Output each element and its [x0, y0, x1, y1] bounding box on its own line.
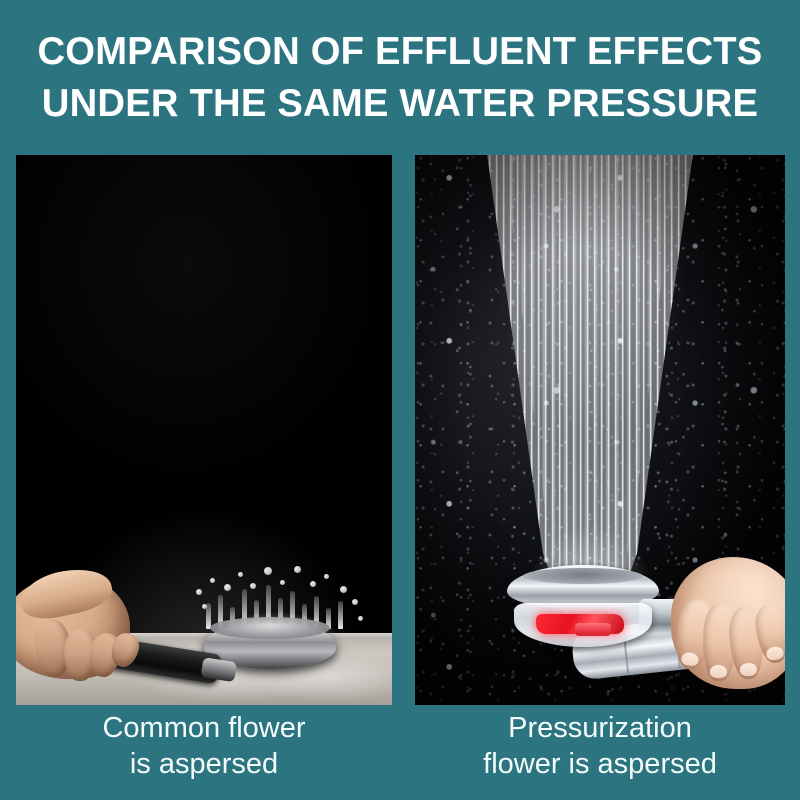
splash-droplet: [324, 574, 329, 579]
handle-connector: [200, 657, 237, 682]
fingernail: [739, 662, 757, 676]
panel-common-flower: [16, 155, 392, 705]
caption-line-2: flower is aspersed: [415, 746, 785, 782]
page-title: COMPARISON OF EFFLUENT EFFECTS UNDER THE…: [0, 26, 800, 130]
caption-line-1: Common flower: [16, 710, 392, 746]
product-comparison-poster: COMPARISON OF EFFLUENT EFFECTS UNDER THE…: [0, 0, 800, 800]
comparison-panels: [16, 155, 785, 705]
splash-droplet: [264, 567, 272, 575]
caption-pressurization-flower: Pressurization flower is aspersed: [415, 710, 785, 782]
title-line-1: COMPARISON OF EFFLUENT EFFECTS: [8, 26, 792, 78]
splash-droplet: [294, 566, 301, 573]
panel-captions: Common flower is aspersed Pressurization…: [0, 710, 800, 800]
shower-head-pressurized-icon: [507, 565, 659, 653]
splash-droplet: [340, 586, 347, 593]
splash-droplet: [280, 580, 285, 585]
hand-holding-shower: [647, 539, 785, 689]
splash-droplet: [358, 616, 363, 621]
panel-pressurization-flower: [415, 155, 785, 705]
splash-droplet: [238, 572, 243, 577]
splash-droplet: [352, 599, 358, 605]
caption-line-2: is aspersed: [16, 746, 392, 782]
red-led-highlight: [575, 623, 611, 636]
splash-droplet: [202, 604, 207, 609]
splash-droplet: [224, 584, 231, 591]
hand-holding-shower: [16, 563, 152, 681]
title-line-2: UNDER THE SAME WATER PRESSURE: [8, 78, 792, 130]
splash-droplet: [310, 581, 316, 587]
splash-droplet: [250, 583, 256, 589]
clear-housing: [514, 603, 652, 647]
shower-head-face: [210, 617, 330, 639]
caption-common-flower: Common flower is aspersed: [16, 710, 392, 782]
splash-spike: [338, 601, 343, 629]
fingernail: [710, 665, 727, 679]
caption-line-1: Pressurization: [415, 710, 785, 746]
splash-droplet: [196, 589, 202, 595]
fingernail: [765, 645, 784, 661]
splash-droplet: [210, 578, 215, 583]
fingernail: [681, 652, 700, 667]
